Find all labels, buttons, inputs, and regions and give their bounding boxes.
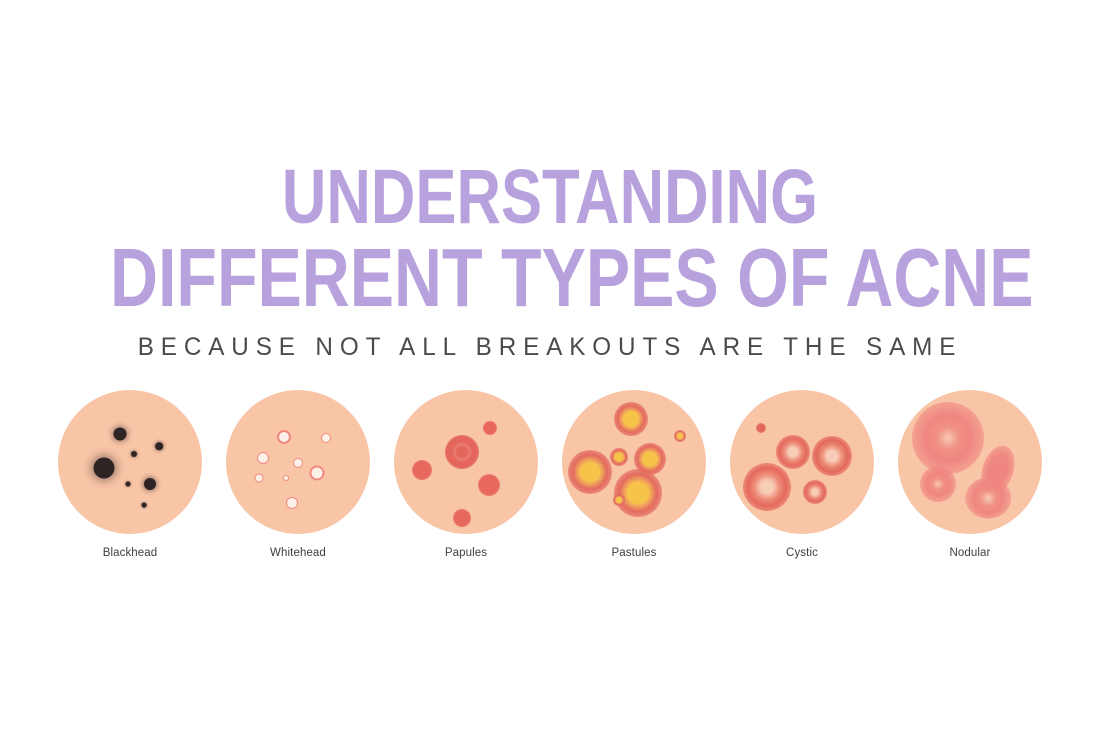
lesion-pustule — [614, 469, 662, 517]
acne-type-whitehead[interactable]: Whitehead — [214, 390, 382, 559]
lesion-pustule — [614, 402, 648, 436]
heading-block: UNDERSTANDING DIFFERENT TYPES OF ACNE BE… — [0, 160, 1100, 362]
lesion-dark — [142, 503, 147, 508]
acne-type-row: BlackheadWhiteheadPapulesPastulesCysticN… — [0, 390, 1100, 559]
acne-type-label: Papules — [445, 547, 487, 559]
lesion-dark — [94, 458, 115, 479]
lesion-ring — [321, 433, 331, 443]
lesion-cyst — [803, 480, 827, 504]
lesion-ring — [286, 497, 298, 509]
acne-type-label: Whitehead — [270, 547, 326, 559]
lesion-dark — [144, 478, 156, 490]
skin-swatch-papules — [394, 390, 538, 534]
lesion-pustule — [674, 430, 686, 442]
acne-type-pastules[interactable]: Pastules — [550, 390, 718, 559]
lesion-dark — [131, 451, 137, 457]
acne-type-label: Nodular — [950, 547, 991, 559]
skin-swatch-nodular — [898, 390, 1042, 534]
skin-swatch-pastules — [562, 390, 706, 534]
lesion-nodule — [920, 466, 956, 502]
skin-swatch-whitehead — [226, 390, 370, 534]
skin-swatch-blackhead — [58, 390, 202, 534]
lesion-dark — [155, 442, 163, 450]
lesion-papule — [453, 509, 471, 527]
acne-type-label: Blackhead — [103, 547, 158, 559]
lesion-ring — [310, 466, 325, 481]
lesion-papule — [412, 460, 432, 480]
acne-type-blackhead[interactable]: Blackhead — [46, 390, 214, 559]
acne-type-nodular[interactable]: Nodular — [886, 390, 1054, 559]
acne-type-papules[interactable]: Papules — [382, 390, 550, 559]
lesion-papule — [483, 421, 497, 435]
lesion-dark — [126, 482, 131, 487]
infographic-page: UNDERSTANDING DIFFERENT TYPES OF ACNE BE… — [0, 0, 1100, 733]
skin-swatch-cystic — [730, 390, 874, 534]
acne-type-label: Cystic — [786, 547, 818, 559]
lesion-papule — [478, 474, 500, 496]
acne-type-cystic[interactable]: Cystic — [718, 390, 886, 559]
page-subtitle: BECAUSE NOT ALL BREAKOUTS ARE THE SAME — [17, 333, 1084, 362]
lesion-cyst — [776, 435, 810, 469]
lesion-cyst — [812, 436, 852, 476]
lesion-cyst — [743, 463, 791, 511]
lesion-nodule — [912, 402, 984, 474]
lesion-papule-ringed — [445, 435, 479, 469]
lesion-dark — [114, 428, 127, 441]
page-title-line-2: DIFFERENT TYPES OF ACNE — [110, 237, 990, 318]
page-title-line-1: UNDERSTANDING — [110, 160, 990, 235]
lesion-ring — [283, 475, 289, 481]
lesion-pustule — [613, 494, 625, 506]
lesion-pustule — [568, 450, 612, 494]
lesion-ring — [293, 458, 303, 468]
lesion-ring — [255, 474, 264, 483]
lesion-ring — [277, 430, 291, 444]
lesion-cyst-small — [756, 423, 766, 433]
acne-type-label: Pastules — [612, 547, 657, 559]
lesion-ring — [257, 452, 269, 464]
lesion-pustule — [610, 448, 628, 466]
lesion-nodule-arc-bottom — [965, 478, 1011, 519]
